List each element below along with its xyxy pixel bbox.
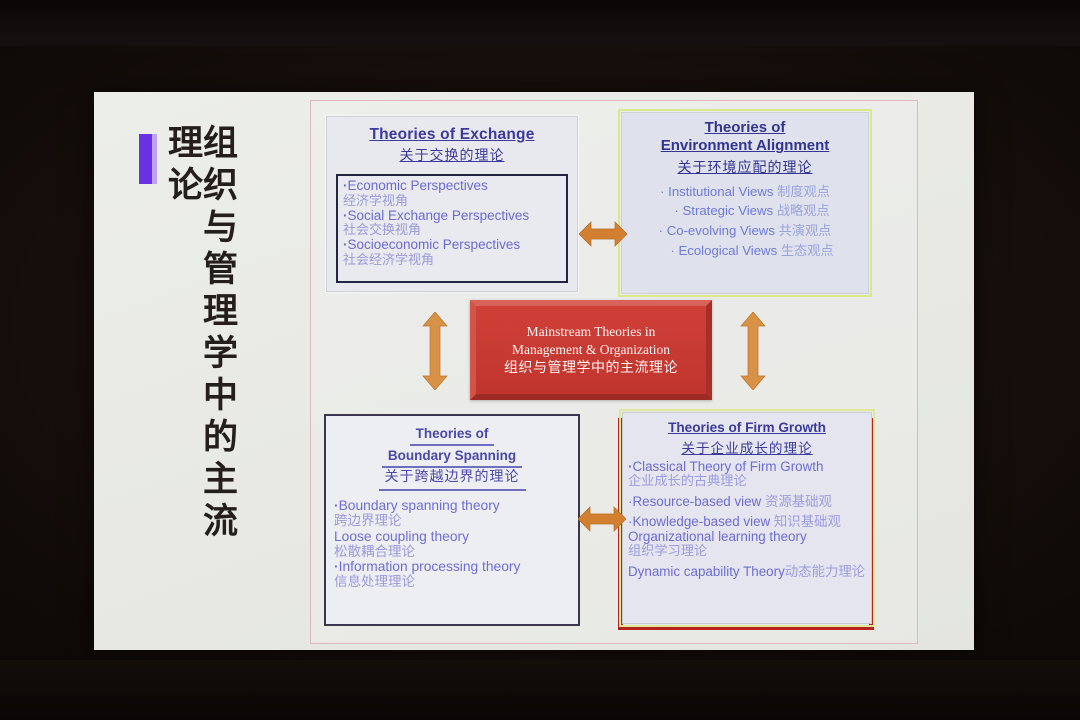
list-item: · Strategic Views 战略观点 <box>622 202 868 222</box>
title-accent-bar <box>139 134 157 184</box>
double-arrow-vertical-icon <box>736 312 770 390</box>
list-item: Dynamic capability Theory动态能力理论 <box>628 560 871 580</box>
center-line-3: 组织与管理学中的主流理论 <box>504 359 678 377</box>
double-arrow-horizontal-icon <box>579 217 627 251</box>
box-mainstream-theories-center[interactable]: Mainstream Theories in Management & Orga… <box>470 300 712 400</box>
list-item-en: Institutional Views <box>668 184 773 199</box>
box-boundary-list: Boundary spanning theory 跨边界理论 Loose cou… <box>334 499 578 591</box>
list-item-en: Resource-based view <box>632 494 761 509</box>
box-environment-title-en-line1: Theories of <box>622 119 868 137</box>
box-boundary-title-cn: 关于跨越边界的理论 <box>379 468 526 491</box>
list-item-cn: 资源基础观 <box>765 495 832 510</box>
box-growth-list: Classical Theory of Firm Growth 企业成长的古典理… <box>628 460 871 580</box>
center-line-2: Management & Organization <box>504 341 678 359</box>
box-boundary-title-en-line1: Theories of <box>410 424 495 446</box>
list-item: ·Knowledge-based view 知识基础观 <box>628 510 871 530</box>
list-item-cn: 战略观点 <box>777 204 830 219</box>
box-boundary-title-en-line2: Boundary Spanning <box>382 446 522 468</box>
box-boundary-header: Theories of Boundary Spanning 关于跨越边界的理论 <box>326 416 578 491</box>
box-growth-title-en: Theories of Firm Growth <box>623 420 871 435</box>
box-exchange-title-en: Theories of Exchange <box>327 126 577 144</box>
list-item-cn: 生态观点 <box>781 244 834 259</box>
list-item: ·Resource-based view 资源基础观 <box>628 490 871 510</box>
list-item-cn: 组织学习理论 <box>628 544 871 559</box>
list-item-cn: 共演观点 <box>779 224 832 239</box>
list-item: Loose coupling theory <box>334 530 578 545</box>
box-exchange-title-cn: 关于交换的理论 <box>327 145 577 165</box>
box-growth-title-cn: 关于企业成长的理论 <box>623 437 871 457</box>
center-box-text: Mainstream Theories in Management & Orga… <box>504 323 678 377</box>
list-item-cn: 社会经济学视角 <box>343 253 562 268</box>
projector-surround: 组织与管理学中的主流理论 Theories of Exchange 关于交换的理… <box>0 0 1080 720</box>
box-environment-title-cn: 关于环境应配的理论 <box>622 157 868 177</box>
list-item: Classical Theory of Firm Growth <box>628 460 871 474</box>
list-item-cn: 社会交换视角 <box>343 223 562 238</box>
box-theories-of-boundary-spanning[interactable]: Theories of Boundary Spanning 关于跨越边界的理论 … <box>324 414 580 626</box>
list-item-cn: 经济学视角 <box>343 194 562 209</box>
box-theories-of-firm-growth[interactable]: Theories of Firm Growth 关于企业成长的理论 Classi… <box>622 412 872 624</box>
list-item-cn: 跨边界理论 <box>334 514 578 530</box>
list-item: Boundary spanning theory <box>334 499 578 514</box>
presentation-slide: 组织与管理学中的主流理论 Theories of Exchange 关于交换的理… <box>94 92 974 650</box>
center-line-1: Mainstream Theories in <box>504 323 678 341</box>
list-item-cn: 信息处理理论 <box>334 575 578 591</box>
list-item-cn: 动态能力理论 <box>785 565 865 580</box>
list-item-en: Dynamic capability Theory <box>628 564 785 579</box>
box-environment-title-en-line2: Environment Alignment <box>622 137 868 155</box>
list-item: Organizational learning theory <box>628 530 871 544</box>
list-item: Economic Perspectives <box>343 179 562 194</box>
list-item: Social Exchange Perspectives <box>343 209 562 224</box>
list-item: · Ecological Views 生态观点 <box>622 242 868 262</box>
list-item: · Institutional Views 制度观点 <box>622 183 868 203</box>
list-item-en: Ecological Views <box>678 243 777 258</box>
list-item-en: Knowledge-based view <box>632 514 770 529</box>
list-item-cn: 企业成长的古典理论 <box>628 474 871 489</box>
box-theories-of-environment-alignment[interactable]: Theories of Environment Alignment 关于环境应配… <box>621 112 869 294</box>
slide-title-column: 组织与管理学中的主流理论 <box>134 114 226 584</box>
list-item-cn: 松散耦合理论 <box>334 545 578 561</box>
list-item-cn: 制度观点 <box>777 185 830 200</box>
double-arrow-vertical-icon <box>418 312 452 390</box>
list-item: · Co-evolving Views 共演观点 <box>622 222 868 242</box>
list-item-en: Strategic Views <box>682 203 773 218</box>
page-title: 组织与管理学中的主流理论 <box>164 124 234 584</box>
box-environment-header: Theories of Environment Alignment 关于环境应配… <box>622 113 868 177</box>
list-item: Information processing theory <box>334 560 578 575</box>
list-item-cn: 知识基础观 <box>774 515 841 530</box>
box-exchange-list: Economic Perspectives 经济学视角 Social Excha… <box>336 174 568 283</box>
box-environment-list: · Institutional Views 制度观点 · Strategic V… <box>622 183 868 262</box>
list-item: Socioeconomic Perspectives <box>343 238 562 253</box>
double-arrow-horizontal-icon <box>578 502 626 536</box>
box-growth-header: Theories of Firm Growth 关于企业成长的理论 <box>623 413 871 457</box>
list-item-en: Co-evolving Views <box>667 223 775 238</box>
box-theories-of-exchange[interactable]: Theories of Exchange 关于交换的理论 Economic Pe… <box>326 116 578 292</box>
box-exchange-header: Theories of Exchange 关于交换的理论 <box>327 117 577 165</box>
